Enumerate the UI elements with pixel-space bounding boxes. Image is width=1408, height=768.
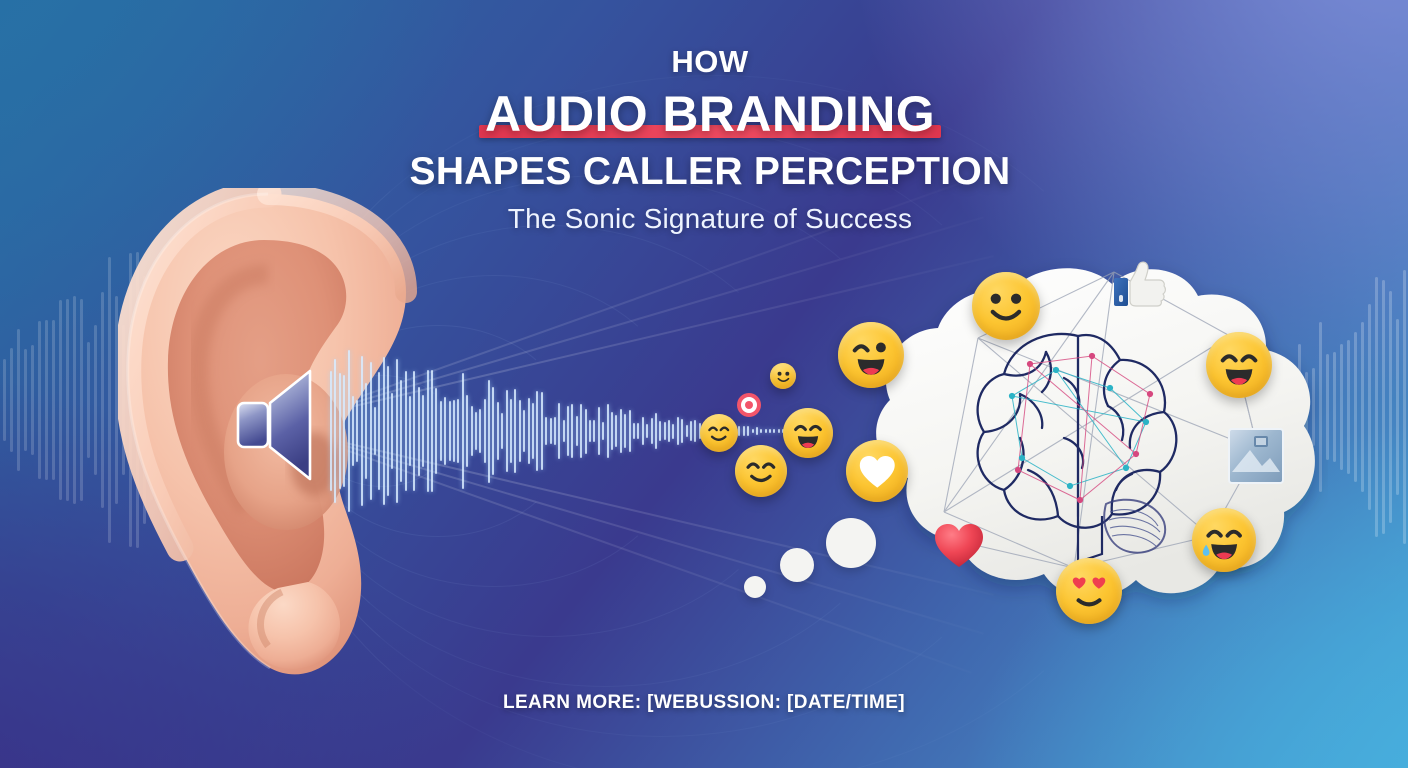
- headline-eyebrow: HOW: [380, 46, 1040, 77]
- emoji-tiny-smiley: [770, 363, 796, 389]
- speaker-icon: [236, 367, 328, 482]
- brain-illustration: [960, 318, 1200, 568]
- emoji-heart-eyes: [1056, 558, 1122, 624]
- emoji-white-heart: [846, 440, 908, 502]
- emoji-smile-small-a: [700, 414, 738, 452]
- poster-canvas: HOW AUDIO BRANDING SHAPES CALLER PERCEPT…: [0, 0, 1408, 768]
- thought-trail-medium: [780, 548, 814, 582]
- emoji-laughing-wink: [838, 322, 904, 388]
- red-heart-icon: [932, 518, 986, 572]
- emoji-smile-small-b: [735, 445, 787, 497]
- thought-trail-small: [744, 576, 766, 598]
- headline-line2: SHAPES CALLER PERCEPTION: [380, 151, 1040, 194]
- emoji-grin-right-top: [1206, 332, 1272, 398]
- headline-line1-wrapper: AUDIO BRANDING: [485, 87, 935, 141]
- ripple-arc-0: [311, 375, 453, 487]
- emoji-sweat-laugh: [1192, 508, 1256, 572]
- headline-line1: AUDIO BRANDING: [485, 87, 935, 141]
- emoji-smiley-neutral: [972, 272, 1040, 340]
- rosette-icon: [736, 392, 762, 418]
- thumbs-up-icon: [1110, 258, 1168, 316]
- ripple-arc-2: [299, 275, 689, 587]
- headline-tagline: The Sonic Signature of Success: [380, 203, 1040, 235]
- photo-tile-icon: [1228, 428, 1284, 484]
- headline-block: HOW AUDIO BRANDING SHAPES CALLER PERCEPT…: [380, 46, 1040, 235]
- emoji-grin-mid: [783, 408, 833, 458]
- footer-cta: LEARN MORE: [WEBUSSION: [DATE/TIME]: [0, 692, 1408, 714]
- ripple-arc-1: [305, 325, 571, 537]
- left-waveform: [0, 250, 272, 550]
